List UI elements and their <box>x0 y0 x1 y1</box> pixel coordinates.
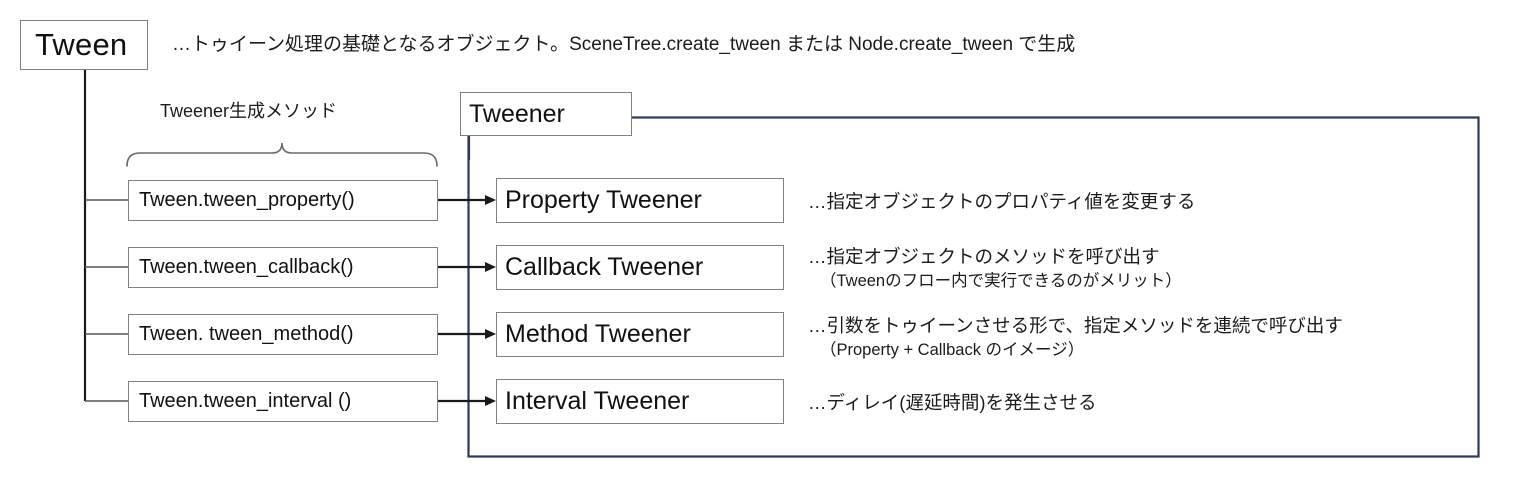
node-method-tween-property-label: Tween.tween_property() <box>139 189 355 212</box>
method-group-brace <box>127 143 437 166</box>
node-method-tween-property[interactable]: Tween.tween_property() <box>128 180 438 221</box>
description-callback-tweener: …指定オブジェクトのメソッドを呼び出す <box>808 244 1160 269</box>
node-method-tween-interval[interactable]: Tween.tween_interval () <box>128 381 438 422</box>
node-tween[interactable]: Tween <box>20 20 148 70</box>
node-tweener-group[interactable]: Tweener <box>460 92 632 136</box>
node-callback-tweener-label: Callback Tweener <box>505 253 703 282</box>
description-method-tweener: …引数をトゥイーンさせる形で、指定メソッドを連続で呼び出す <box>808 313 1343 338</box>
node-interval-tweener[interactable]: Interval Tweener <box>496 379 784 424</box>
arrow-connectors <box>437 195 496 406</box>
node-property-tweener-label: Property Tweener <box>505 186 702 215</box>
note-callback-tweener: （Tweenのフロー内で実行できるのがメリット） <box>820 269 1182 293</box>
node-method-tween-interval-label: Tween.tween_interval () <box>139 390 351 413</box>
node-interval-tweener-label: Interval Tweener <box>505 387 689 416</box>
tween-architecture-diagram: Tween …トゥイーン処理の基礎となるオブジェクト。SceneTree.cre… <box>0 0 1536 479</box>
node-method-tween-callback[interactable]: Tween.tween_callback() <box>128 247 438 288</box>
node-property-tweener[interactable]: Property Tweener <box>496 178 784 223</box>
node-method-tween-callback-label: Tween.tween_callback() <box>139 256 354 279</box>
description-property-tweener: …指定オブジェクトのプロパティ値を変更する <box>808 189 1195 214</box>
node-callback-tweener[interactable]: Callback Tweener <box>496 245 784 290</box>
node-method-tween-method-label: Tween. tween_method() <box>139 323 354 346</box>
method-group-label: Tweener生成メソッド <box>160 97 337 123</box>
note-method-tweener: （Property + Callback のイメージ） <box>820 338 1084 362</box>
tween-description: …トゥイーン処理の基礎となるオブジェクト。SceneTree.create_tw… <box>172 29 1075 56</box>
node-tweener-group-label: Tweener <box>469 100 565 129</box>
node-method-tween-method[interactable]: Tween. tween_method() <box>128 314 438 355</box>
description-interval-tweener: …ディレイ(遅延時間)を発生させる <box>808 390 1097 415</box>
node-tween-label: Tween <box>35 27 127 63</box>
node-method-tweener-label: Method Tweener <box>505 320 691 349</box>
node-method-tweener[interactable]: Method Tweener <box>496 312 784 357</box>
